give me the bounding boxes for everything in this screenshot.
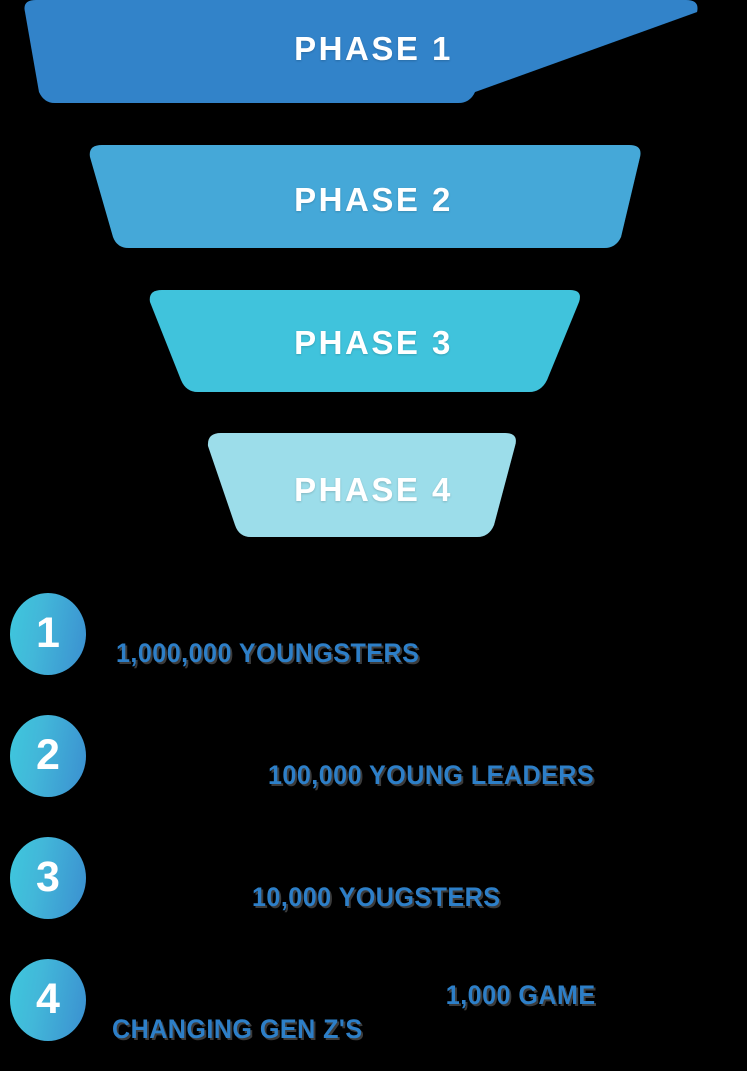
legend-item-2[interactable]: 2 100,000 YOUNG LEADERS [0,707,747,827]
legend-badge-3: 3 [10,837,86,919]
legend-badge-1: 1 [10,593,86,675]
funnel-legend: 1 1,000,000 YOUNGSTERS 2 100,000 YOUNG L… [0,585,747,1067]
funnel-band-phase-2[interactable]: PHASE 2 [0,145,747,255]
legend-label-2: 100,000 YOUNG LEADERS [268,759,594,793]
funnel-band-phase-2-shape [0,145,747,255]
funnel-band-phase-3[interactable]: PHASE 3 [0,290,747,400]
legend-badge-2: 2 [10,715,86,797]
legend-badge-1-number: 1 [36,612,60,655]
legend-badge-3-number: 3 [36,856,60,899]
funnel-band-phase-1[interactable]: PHASE 1 [0,0,747,110]
legend-item-3[interactable]: 3 10,000 YOUGSTERS [0,829,747,949]
legend-badge-4-number: 4 [36,978,60,1021]
legend-label-1: 1,000,000 YOUNGSTERS [116,637,419,671]
funnel-band-phase-4[interactable]: PHASE 4 [0,433,747,545]
legend-label-3: 10,000 YOUGSTERS [252,881,500,915]
legend-badge-2-number: 2 [36,734,60,777]
legend-item-1[interactable]: 1 1,000,000 YOUNGSTERS [0,585,747,705]
legend-label-4: 1,000 GAMECHANGING GEN Z'S [112,979,596,1047]
funnel-band-phase-4-shape [0,433,747,545]
funnel-band-phase-1-shape [0,0,747,110]
legend-item-4[interactable]: 4 1,000 GAMECHANGING GEN Z'S [0,951,747,1071]
funnel-diagram: PHASE 1 PHASE 2 PHASE 3 [0,0,747,560]
funnel-band-phase-3-shape [0,290,747,400]
legend-label-4-line1: 1,000 GAME [446,980,596,1010]
legend-label-4-line2: CHANGING GEN Z'S [112,1013,596,1047]
legend-badge-4: 4 [10,959,86,1041]
